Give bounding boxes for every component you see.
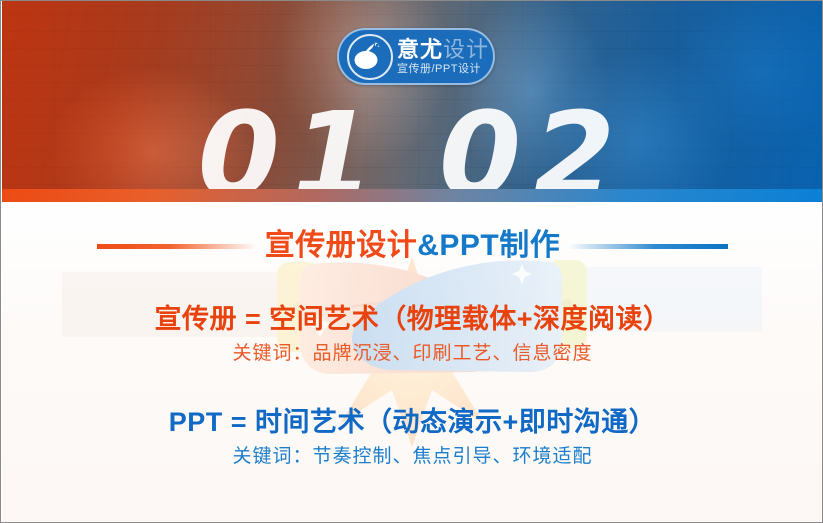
ppt-headline: PPT = 时间艺术（动态演示+即时沟通） — [2, 405, 823, 439]
section-title-row: 宣传册设计&PPT制作 — [2, 230, 823, 262]
banner-ghost-numerals: 01 02 — [2, 96, 823, 202]
header-banner: 01 02 意尤设计 宣传册/PPT设计 — [2, 1, 823, 202]
section-title-right: PPT制作 — [439, 229, 560, 262]
brochure-headline: 宣传册 = 空间艺术（物理载体+深度阅读） — [2, 302, 823, 336]
content-area: 宣传册设计&PPT制作 宣传册 = 空间艺术（物理载体+深度阅读） 关键词：品牌… — [2, 202, 823, 523]
brand-logo-title-dim: 设计 — [443, 37, 489, 62]
brush-pen-circle-icon — [347, 34, 393, 80]
ppt-block: PPT = 时间艺术（动态演示+即时沟通） 关键词：节奏控制、焦点引导、环境适配 — [2, 405, 823, 470]
ppt-keywords: 关键词：节奏控制、焦点引导、环境适配 — [2, 444, 823, 470]
brand-logo-title-main: 意尤 — [397, 37, 443, 62]
title-rule-right — [568, 244, 728, 249]
brand-logo-badge[interactable]: 意尤设计 宣传册/PPT设计 — [337, 28, 495, 85]
brand-logo-title: 意尤设计 — [397, 38, 489, 62]
slide-canvas: 01 02 意尤设计 宣传册/PPT设计 — [0, 0, 823, 523]
title-rule-left — [97, 244, 257, 249]
section-title-separator: & — [417, 229, 439, 262]
brand-logo-subtitle: 宣传册/PPT设计 — [397, 63, 489, 76]
brand-logo-text: 意尤设计 宣传册/PPT设计 — [397, 38, 489, 76]
brochure-keywords: 关键词：品牌沉浸、印刷工艺、信息密度 — [2, 341, 823, 367]
brochure-block: 宣传册 = 空间艺术（物理载体+深度阅读） 关键词：品牌沉浸、印刷工艺、信息密度 — [2, 302, 823, 367]
section-title: 宣传册设计&PPT制作 — [257, 230, 569, 262]
banner-bottom-strip — [2, 189, 823, 202]
section-title-left: 宣传册设计 — [265, 229, 418, 262]
